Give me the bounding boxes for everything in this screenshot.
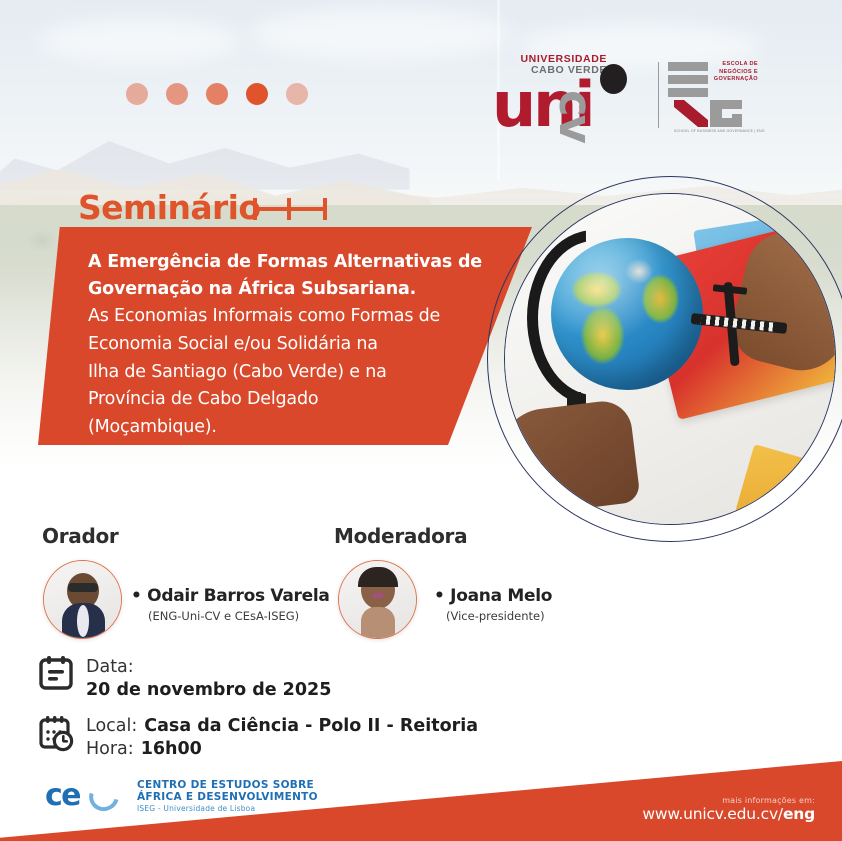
eng-g-shape — [710, 100, 742, 127]
website-url[interactable]: www.unicv.edu.cv/eng — [642, 805, 815, 823]
cesa-logo-icon: ce CENTRO DE ESTUDOS SOBRE ÁFRICA E DESE… — [45, 779, 318, 814]
calendar-icon — [38, 655, 74, 695]
eng-monogram — [674, 100, 754, 127]
event-details: Data: 20 de novembro de 2025 — [38, 655, 538, 773]
subtitle-line-5: (Moçambique). — [88, 414, 492, 442]
eng-bar — [668, 75, 708, 84]
subtitle-line-2: Economia Social e/ou Solidária na — [88, 331, 492, 359]
subtitle-line-1: As Economias Informais como Formas de — [88, 303, 492, 331]
seminar-poster: UNIVERSIDADE CABO VERDE uni cv ESCOLA DE… — [0, 0, 842, 841]
title-line-2: Governação na África Subsariana. — [88, 276, 492, 303]
dot-icon — [126, 83, 148, 105]
eng-line2: NEGÓCIOS E — [712, 69, 758, 77]
date-row: Data: 20 de novembro de 2025 — [38, 655, 538, 702]
subtitle-line-3: Ilha de Santiago (Cabo Verde) e na — [88, 359, 492, 387]
calendar-clock-icon — [38, 714, 74, 754]
date-value: 20 de novembro de 2025 — [86, 679, 331, 702]
eng-line3: GOVERNAÇÃO — [712, 76, 758, 84]
moderator-affiliation: (Vice-presidente) — [446, 609, 545, 623]
cesa-swoosh-shape — [84, 777, 124, 817]
time-label: Hora: — [86, 738, 134, 761]
cesa-wordmark: ce — [45, 779, 80, 813]
people-section: Orador • Odair Barros Varela (ENG-Uni-CV… — [0, 516, 842, 636]
more-info-label: mais informações em: — [642, 796, 815, 805]
eng-bar — [668, 88, 708, 97]
speaker-name: • Odair Barros Varela — [131, 586, 330, 606]
moderator-role-label: Moderadora — [334, 524, 467, 548]
logo-bar: UNIVERSIDADE CABO VERDE uni cv ESCOLA DE… — [486, 52, 754, 134]
location-time-row: Local: Casa da Ciência - Polo II - Reito… — [38, 714, 538, 761]
eng-text-block: ESCOLA DE NEGÓCIOS E GOVERNAÇÃO — [712, 61, 758, 84]
unicv-dot-shape — [600, 64, 627, 94]
speaker-affiliation: (ENG-Uni-CV e CEsA-ISEG) — [148, 609, 299, 623]
cesa-mark: ce — [45, 779, 127, 813]
eng-logo-icon: ESCOLA DE NEGÓCIOS E GOVERNAÇÃO SCHOOL O… — [668, 58, 754, 134]
logo-divider — [658, 62, 659, 128]
hand-holding-globe — [504, 398, 641, 518]
hero-photo — [504, 193, 836, 525]
toy-plane-icon — [691, 282, 787, 366]
cesa-line2: ÁFRICA E DESENVOLVIMENTO — [137, 791, 318, 803]
divider-bar-icon — [253, 198, 327, 220]
moderator-name: • Joana Melo — [434, 586, 552, 606]
url-prefix: www.unicv.edu.cv/ — [642, 805, 783, 823]
date-label: Data: — [86, 656, 331, 679]
dot-icon — [246, 83, 268, 105]
footer-link-block[interactable]: mais informações em: www.unicv.edu.cv/en… — [642, 796, 815, 823]
dot-icon — [166, 83, 188, 105]
eng-footer-text: SCHOOL OF BUSINESS AND GOVERNANCE | ENG — [674, 129, 765, 133]
place-label: Local: — [86, 715, 137, 738]
url-bold: eng — [783, 805, 815, 823]
eng-bars — [668, 62, 708, 101]
title-banner: A Emergência de Formas Alternativas de G… — [38, 227, 532, 445]
unicv-logo-icon: UNIVERSIDADE CABO VERDE uni cv — [486, 52, 636, 134]
eng-bar — [668, 62, 708, 71]
speaker-avatar — [43, 560, 122, 639]
speaker-role-label: Orador — [42, 524, 118, 548]
unicv-cv-mark: cv — [549, 90, 602, 142]
eng-n-shape — [674, 100, 708, 127]
cesa-line3: ISEG - Universidade de Lisboa — [137, 805, 318, 814]
decorative-dots — [126, 83, 308, 105]
eng-line1: ESCOLA DE — [712, 61, 758, 69]
dot-icon — [206, 83, 228, 105]
cesa-text-block: CENTRO DE ESTUDOS SOBRE ÁFRICA E DESENVO… — [137, 779, 318, 814]
cesa-line1: CENTRO DE ESTUDOS SOBRE — [137, 779, 318, 791]
title-line-1: A Emergência de Formas Alternativas de — [88, 249, 492, 276]
dot-icon — [286, 83, 308, 105]
eyebrow-label: Seminário — [78, 188, 260, 227]
time-value: 16h00 — [141, 738, 202, 761]
moderator-avatar — [338, 560, 417, 639]
subtitle-line-4: Província de Cabo Delgado — [88, 386, 492, 414]
place-value: Casa da Ciência - Polo II - Reitoria — [144, 715, 478, 738]
